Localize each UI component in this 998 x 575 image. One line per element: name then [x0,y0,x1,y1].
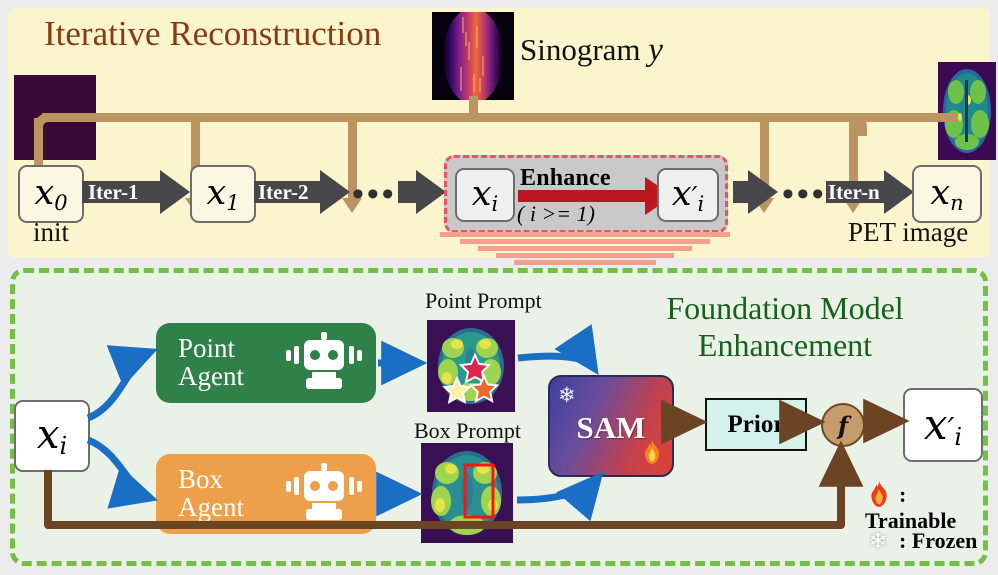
point-agent-line2: Agent [178,363,274,391]
iter-n-arrowhead [884,170,914,214]
iter-1-arrowhead [160,170,190,214]
point-prompt-label: Point Prompt [425,290,542,312]
box-agent-line1: Box [178,466,274,494]
iter-2-arrowhead [320,170,350,214]
fusion-to-output-dashed-arrow [868,416,902,425]
node-xi-prime-output-symbol: x′i [924,400,962,451]
iter-mid-arrowhead [416,170,446,214]
box-prompt-image [421,443,513,543]
node-xi[interactable]: xi [455,168,515,222]
panel-title-iterative-reconstruction: Iterative Reconstruction [44,16,381,51]
sinogram-text: Sinogram [520,32,641,67]
node-xi-input-symbol: xi [37,412,67,460]
sinogram-bus-line [42,113,958,122]
point-prompt-image [427,320,515,412]
ellipsis-left: ••• [352,176,397,214]
init-label: init [33,219,69,246]
node-x0[interactable]: x0 [18,165,84,223]
sam-box[interactable]: ❄ SAM [548,375,674,477]
foundation-title-line2: Enhancement [698,327,872,363]
box-agent-box[interactable]: Box Agent [156,454,376,534]
robot-icon [278,330,370,397]
legend-frozen: : Frozen [865,528,977,554]
sinogram-symbol: y [648,32,663,68]
ellipsis-right: ••• [782,176,827,214]
enhance-condition: ( i >= 1) [517,203,595,225]
node-xi-input[interactable]: xi [14,400,90,472]
point-agent-box[interactable]: Point Agent [156,323,376,403]
snowflake-icon: ❄ [558,383,576,408]
enhance-label: Enhance [520,166,611,190]
box-agent-line2: Agent [178,494,274,522]
sinogram-label: Sinogram y [520,34,663,67]
node-x1-symbol: x1 [206,173,239,215]
bus-corner-left [34,113,57,136]
legend-trainable-text: : Trainable [865,482,956,533]
node-xn-symbol: xn [930,173,963,215]
sinogram-image [432,12,514,100]
box-agent-label: Box Agent [178,466,274,521]
iter-tail-arrowhead [748,170,778,214]
foundation-title-line1: Foundation Model [666,290,903,326]
fusion-function-node[interactable]: f [821,403,865,447]
legend-frozen-text: : Frozen [899,528,977,553]
panel-title-foundation-model-enhancement: Foundation Model Enhancement [640,290,930,364]
fire-icon [640,439,664,471]
light-fan [420,232,750,270]
node-xi-prime-symbol: x′i [672,174,704,216]
point-agent-label: Point Agent [178,335,274,390]
node-x0-symbol: x0 [34,173,67,215]
bus-stem-sinogram [469,96,478,116]
node-x1[interactable]: x1 [190,165,256,223]
iter-n-label: Iter-n [828,180,880,205]
prior-label: Prior [728,411,785,439]
pet-image-label: PET image [848,219,968,246]
node-xn[interactable]: xn [912,165,982,223]
pet-image [938,62,996,160]
iter-2-label: Iter-2 [258,180,309,205]
diagram-canvas: Iterative Reconstruction S [0,0,998,575]
box-prompt-label: Box Prompt [414,420,521,442]
iter-1-label: Iter-1 [88,180,139,205]
fusion-label: f [838,411,848,440]
node-xi-symbol: xi [472,174,498,216]
node-xi-prime[interactable]: x′i [657,168,719,222]
point-agent-line1: Point [178,335,274,363]
prior-box[interactable]: Prior [705,398,807,451]
robot-icon [278,461,370,528]
node-xi-prime-output[interactable]: x′i [903,388,983,462]
